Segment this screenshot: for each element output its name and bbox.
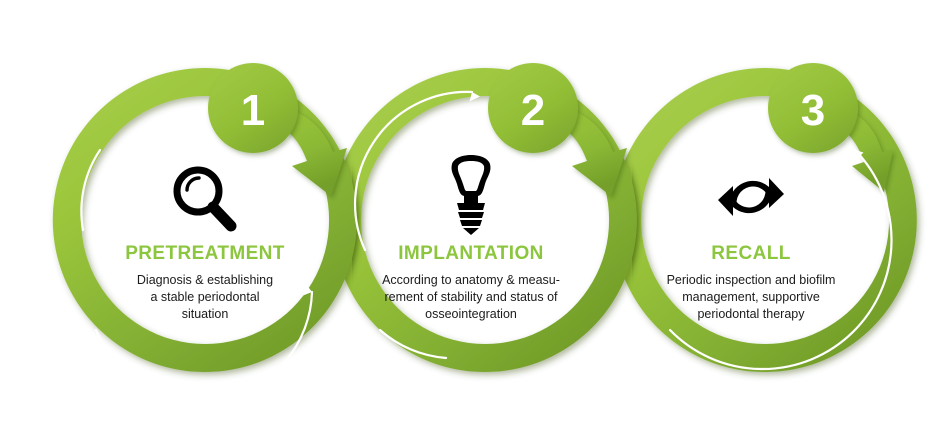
step-2-description: According to anatomy & measu- rement of … xyxy=(363,272,579,323)
step-2-number: 2 xyxy=(521,86,545,135)
step-1-number: 1 xyxy=(241,86,265,135)
step-3-number: 3 xyxy=(801,86,825,135)
step-3-content: RECALL Periodic inspection and biofilm m… xyxy=(636,150,866,323)
step-3-desc-line-1: Periodic inspection and biofilm xyxy=(645,272,857,289)
step-3-title: RECALL xyxy=(636,244,866,263)
infographic-canvas: 1 2 3 xyxy=(0,0,940,425)
step-1-desc-line-3: situation xyxy=(105,306,305,323)
step-1-desc-line-1: Diagnosis & establishing xyxy=(105,272,305,289)
step-2-desc-line-1: According to anatomy & measu- xyxy=(363,272,579,289)
step-1-desc-line-2: a stable periodontal xyxy=(105,289,305,306)
step-2-content: IMPLANTATION According to anatomy & meas… xyxy=(356,150,586,323)
dental-implant-icon xyxy=(356,150,586,236)
step-3-description: Periodic inspection and biofilm manageme… xyxy=(645,272,857,323)
step-1-description: Diagnosis & establishing a stable period… xyxy=(105,272,305,323)
step-2-desc-line-2: rement of stability and status of xyxy=(363,289,579,306)
step-2-title: IMPLANTATION xyxy=(356,244,586,263)
step-1-title: PRETREATMENT xyxy=(90,244,320,263)
step-1-content: PRETREATMENT Diagnosis & establishing a … xyxy=(90,150,320,323)
step-3-desc-line-2: management, supportive xyxy=(645,289,857,306)
step-3-desc-line-3: periodontal therapy xyxy=(645,306,857,323)
step-2-desc-line-3: osseointegration xyxy=(363,306,579,323)
recycle-refresh-icon xyxy=(636,150,866,236)
magnifier-icon xyxy=(90,150,320,236)
